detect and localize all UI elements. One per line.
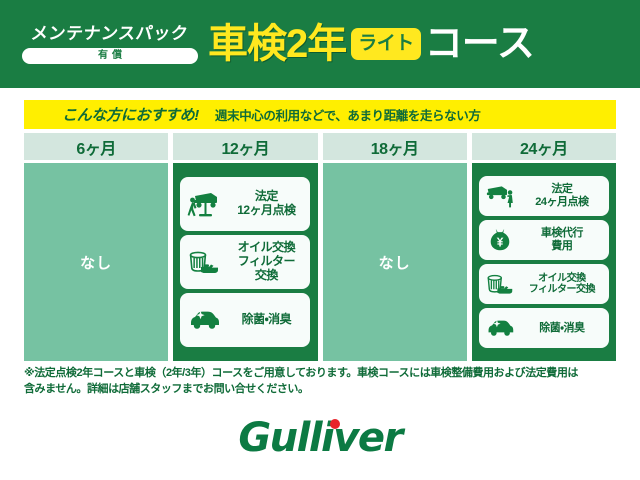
car-sparkle-icon <box>186 309 222 331</box>
table-column-18-months: 18ヶ月 なし <box>323 133 467 361</box>
footnote-line-1: ※法定点検2年コースと車検（2年/3年）コースをご用意しております。車検コースに… <box>24 366 618 382</box>
service-card: 法定 12ヶ月点検 <box>180 177 310 231</box>
service-card: 車検代行 費用 <box>479 220 609 260</box>
headline-main-text: 車検2年 <box>208 24 346 64</box>
headline: 車検2年 ライト コース <box>208 24 626 64</box>
column-body-6-months: なし <box>24 163 168 361</box>
service-card-label-line2: フィルター <box>226 255 306 269</box>
maintenance-pack-block: メンテナンスパック 有償 <box>22 25 198 64</box>
column-body-12-months: 法定 12ヶ月点検 <box>173 163 317 361</box>
header-band: メンテナンスパック 有償 車検2年 ライト コース <box>0 0 640 88</box>
service-card-label: オイル交換 フィルター 交換 <box>226 241 306 282</box>
service-card-label: 法定 12ヶ月点検 <box>226 190 306 218</box>
table-column-24-months: 24ヶ月 <box>472 133 616 361</box>
footnote: ※法定点検2年コースと車検（2年/3年）コースをご用意しております。車検コースに… <box>24 366 618 398</box>
table-column-12-months: 12ヶ月 <box>173 133 317 361</box>
service-card: 法定 24ヶ月点検 <box>479 176 609 216</box>
service-card-label-line3: 交換 <box>226 269 306 283</box>
brand-logo-wordmark: Gulliver <box>238 415 401 461</box>
service-card-label: オイル交換 フィルター交換 <box>519 273 605 296</box>
column-header-6-months: 6ヶ月 <box>24 133 168 160</box>
column-body-24-months: 法定 24ヶ月点検 車検代行 <box>472 163 616 361</box>
recommendation-heading: こんな方におすすめ! <box>62 104 199 125</box>
recommendation-description: 週末中心の利用などで、あまり距離を走らない方 <box>215 105 480 124</box>
footnote-line-2: 含みません。詳細は店舗スタッフまでお問い合せください。 <box>24 382 618 398</box>
service-card: オイル交換 フィルター 交換 <box>180 235 310 289</box>
service-card-label-line1: 法定 <box>519 183 605 196</box>
service-card-label-line1: 除菌・消臭 <box>519 322 605 335</box>
service-card: 除菌・消臭 <box>479 308 609 348</box>
maintenance-pack-title: メンテナンスパック <box>31 25 190 42</box>
service-card-label-line2: 12ヶ月点検 <box>226 204 306 218</box>
headline-suffix-text: コース <box>425 25 534 63</box>
service-card: オイル交換 フィルター交換 <box>479 264 609 304</box>
column-header-18-months: 18ヶ月 <box>323 133 467 160</box>
service-card-label-line2: 費用 <box>519 240 605 253</box>
service-card-label-line1: 法定 <box>226 190 306 204</box>
maintenance-pack-promo-page: メンテナンスパック 有償 車検2年 ライト コース こんな方におすすめ! 週末中… <box>0 0 640 480</box>
column-header-12-months: 12ヶ月 <box>173 133 317 160</box>
service-card-label-line2: フィルター交換 <box>519 284 605 296</box>
none-label-18-months: なし <box>379 252 411 273</box>
service-card-label-line1: 除菌・消臭 <box>226 313 306 327</box>
service-card-label: 除菌・消臭 <box>519 322 605 335</box>
car-on-lift-inspection-icon <box>186 188 222 220</box>
service-card-label-line1: オイル交換 <box>519 273 605 285</box>
service-schedule-table: 6ヶ月 なし 12ヶ月 <box>24 133 616 361</box>
service-card-label-line1: 車検代行 <box>519 227 605 240</box>
table-column-6-months: 6ヶ月 なし <box>24 133 168 361</box>
service-card-label: 除菌・消臭 <box>226 313 306 327</box>
service-card-label: 法定 24ヶ月点検 <box>519 183 605 208</box>
recommendation-banner: こんな方におすすめ! 週末中心の利用などで、あまり距離を走らない方 <box>24 100 616 129</box>
car-sparkle-icon <box>485 318 515 338</box>
light-course-badge: ライト <box>351 28 421 60</box>
oil-filter-and-oil-can-icon <box>186 246 222 278</box>
service-card: 除菌・消臭 <box>180 293 310 347</box>
service-card-label-line1: オイル交換 <box>226 241 306 255</box>
money-bag-yen-icon <box>485 227 515 253</box>
car-on-lift-inspection-icon <box>485 182 515 210</box>
brand-logo: Gulliver <box>0 418 640 458</box>
paid-badge: 有償 <box>22 48 198 64</box>
column-header-24-months: 24ヶ月 <box>472 133 616 160</box>
oil-filter-and-oil-can-icon <box>485 270 515 298</box>
column-body-18-months: なし <box>323 163 467 361</box>
service-card-label: 車検代行 費用 <box>519 227 605 252</box>
none-label-6-months: なし <box>80 252 112 273</box>
brand-logo-text: Gulliver <box>238 418 401 458</box>
service-card-label-line2: 24ヶ月点検 <box>519 196 605 209</box>
